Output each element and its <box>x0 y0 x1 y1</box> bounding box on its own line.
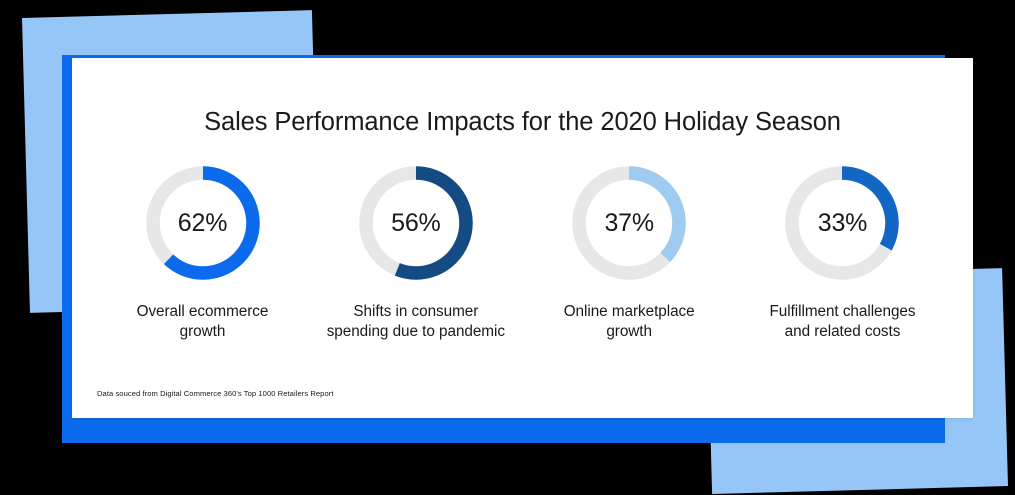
donut-caption: Online marketplace growth <box>564 302 695 343</box>
donut-chart: 37% <box>567 161 691 285</box>
donut-chart: 62% <box>141 161 265 285</box>
donut-metric: 37%Online marketplace growth <box>527 161 732 343</box>
donut-caption: Fulfillment challenges and related costs <box>769 302 915 343</box>
donut-caption: Overall ecommerce growth <box>137 302 269 343</box>
donut-value-label: 37% <box>567 161 691 285</box>
donut-metric: 33%Fulfillment challenges and related co… <box>740 161 945 343</box>
donut-value-label: 56% <box>354 161 478 285</box>
donut-value-label: 33% <box>780 161 904 285</box>
donut-metric: 56%Shifts in consumer spending due to pa… <box>313 161 518 343</box>
donut-caption: Shifts in consumer spending due to pande… <box>327 302 505 343</box>
donut-chart: 56% <box>354 161 478 285</box>
donut-value-label: 62% <box>141 161 265 285</box>
donut-metric: 62%Overall ecommerce growth <box>100 161 305 343</box>
donut-chart: 33% <box>780 161 904 285</box>
slide-canvas: Sales Performance Impacts for the 2020 H… <box>0 0 1015 495</box>
chart-card: Sales Performance Impacts for the 2020 H… <box>72 58 973 418</box>
source-footnote: Data souced from Digital Commerce 360's … <box>97 389 334 398</box>
donut-metrics-row: 62%Overall ecommerce growth56%Shifts in … <box>100 161 945 343</box>
page-title: Sales Performance Impacts for the 2020 H… <box>72 108 973 137</box>
